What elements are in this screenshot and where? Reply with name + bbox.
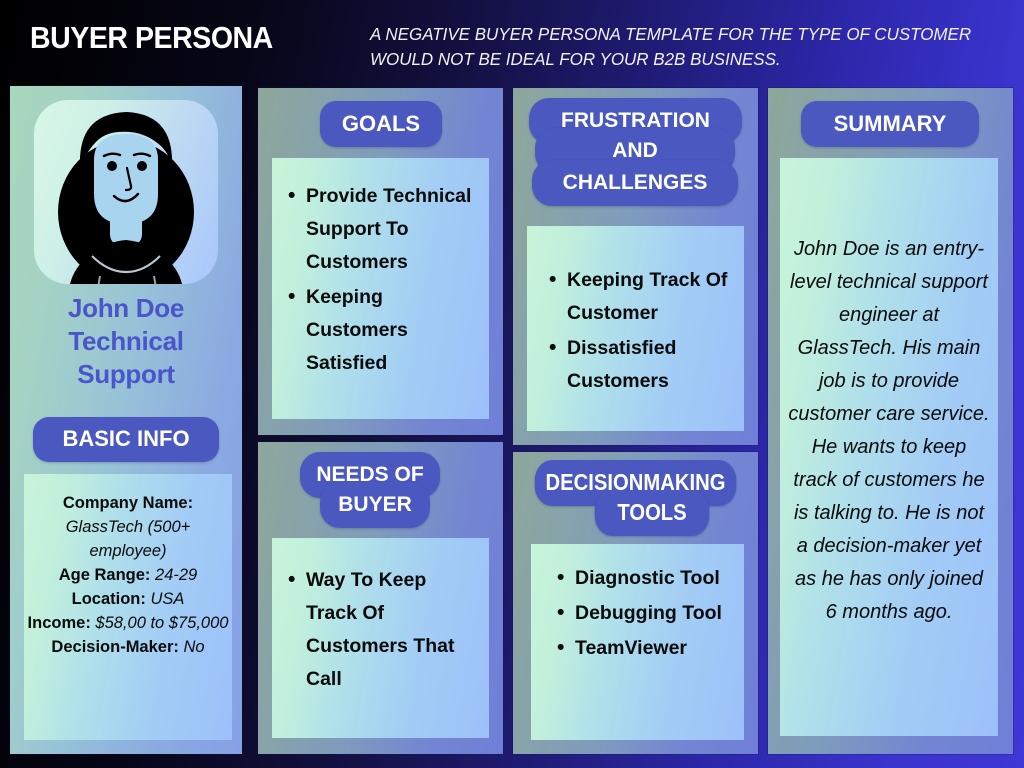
goals-list: Provide Technical Support To Customers K… [284, 180, 475, 380]
list-item: Keeping Track Of Customer [545, 264, 732, 330]
list-item: Provide Technical Support To Customers [284, 180, 475, 279]
header: BUYER PERSONA A NEGATIVE BUYER PERSONA T… [0, 0, 1024, 84]
field-value: $58,00 to $75,000 [95, 614, 228, 632]
summary-card: SUMMARY John Doe is an entry-level techn… [768, 88, 1013, 754]
list-item: Keeping Customers Satisfied [284, 281, 475, 380]
basic-info-row: Decision-Maker: No [26, 635, 230, 659]
page-subtitle: A NEGATIVE BUYER PERSONA TEMPLATE FOR TH… [370, 22, 986, 72]
field-label: Decision-Maker: [51, 638, 178, 656]
basic-info-row: Company Name: GlassTech (500+ employee) [26, 491, 230, 563]
list-item: TeamViewer [553, 632, 734, 665]
needs-card: NEEDS OF BUYER Way To Keep Track Of Cust… [258, 442, 503, 754]
field-label: Location: [72, 590, 146, 608]
tools-list: Diagnostic Tool Debugging Tool TeamViewe… [553, 562, 734, 665]
basic-info-row: Location: USA [26, 587, 230, 611]
field-label: Income: [28, 614, 91, 632]
basic-info-fields: Company Name: GlassTech (500+ employee) … [26, 491, 230, 659]
basic-info-heading: BASIC INFO [33, 417, 219, 462]
frustration-heading-line3: CHALLENGES [532, 160, 738, 206]
persona-name: John Doe [18, 292, 234, 325]
summary-heading: SUMMARY [801, 101, 979, 147]
frustration-content-box: Keeping Track Of Customer Dissatisfied C… [527, 226, 744, 431]
persona-role: Technical Support [18, 325, 234, 391]
person-avatar-icon [34, 100, 218, 284]
list-item: Dissatisfied Customers [545, 332, 732, 398]
page-title: BUYER PERSONA [30, 20, 273, 56]
field-label: Company Name: [63, 494, 193, 512]
frustration-card: FRUSTRATION AND CHALLENGES Keeping Track… [513, 88, 758, 445]
field-label: Age Range: [59, 566, 151, 584]
list-item: Diagnostic Tool [553, 562, 734, 595]
infographic-page: BUYER PERSONA A NEGATIVE BUYER PERSONA T… [0, 0, 1024, 768]
persona-name-role: John Doe Technical Support [18, 292, 234, 391]
field-value: No [183, 638, 204, 656]
basic-info-row: Income: $58,00 to $75,000 [26, 611, 230, 635]
field-value: 24-29 [155, 566, 197, 584]
frustration-list: Keeping Track Of Customer Dissatisfied C… [545, 264, 732, 398]
avatar [34, 100, 218, 284]
list-item: Debugging Tool [553, 597, 734, 630]
tools-content-box: Diagnostic Tool Debugging Tool TeamViewe… [531, 544, 744, 740]
summary-text: John Doe is an entry-level technical sup… [788, 233, 990, 629]
needs-heading-line2: BUYER [320, 482, 430, 528]
needs-list: Way To Keep Track Of Customers That Call [284, 564, 475, 696]
tools-heading-line2: TOOLS [595, 490, 709, 536]
goals-card: GOALS Provide Technical Support To Custo… [258, 88, 503, 435]
persona-card: John Doe Technical Support BASIC INFO Co… [10, 86, 242, 754]
field-value: USA [150, 590, 184, 608]
field-value: GlassTech (500+ employee) [66, 518, 191, 560]
needs-content-box: Way To Keep Track Of Customers That Call [272, 538, 489, 738]
goals-heading: GOALS [320, 101, 442, 147]
tools-card: DECISIONMAKING TOOLS Diagnostic Tool Deb… [513, 452, 758, 754]
basic-info-row: Age Range: 24-29 [26, 563, 230, 587]
goals-content-box: Provide Technical Support To Customers K… [272, 158, 489, 419]
list-item: Way To Keep Track Of Customers That Call [284, 564, 475, 696]
